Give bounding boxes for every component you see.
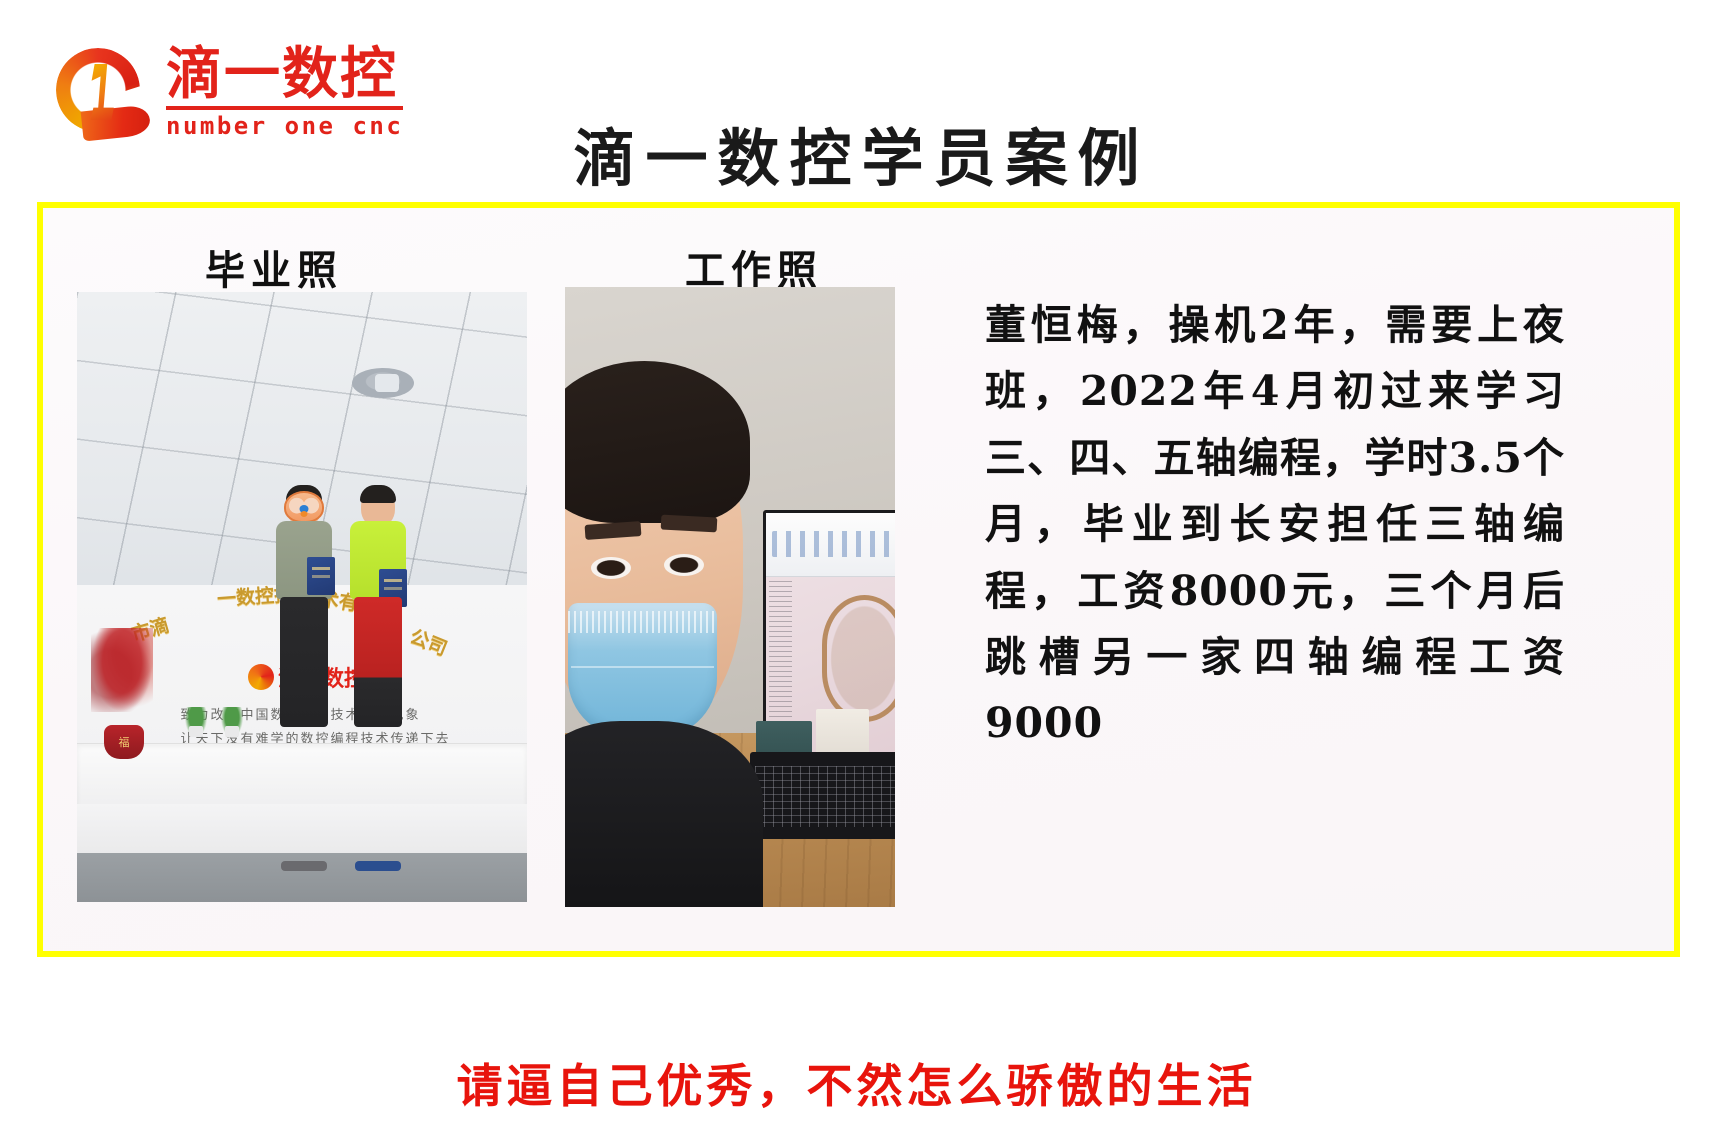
graduate-person-right xyxy=(347,487,409,865)
page-title: 滴一数控学员案例 xyxy=(0,108,1713,198)
potted-plant xyxy=(185,707,207,737)
surgical-mask xyxy=(568,603,717,739)
person-shoes xyxy=(281,861,327,871)
logo-chinese-name: 滴一数控 xyxy=(166,47,403,103)
caption-graduation-photo: 毕业照 xyxy=(205,238,343,296)
ceiling-downlight-icon xyxy=(352,368,414,398)
cad-part-model xyxy=(822,595,895,721)
certificate-booklet xyxy=(307,557,335,595)
flower-arrangement xyxy=(91,628,153,712)
work-photo xyxy=(565,287,895,907)
potted-plant xyxy=(221,707,243,737)
footer-slogan: 请逼自己优秀，不然怎么骄傲的生活 xyxy=(0,1050,1713,1116)
keyboard xyxy=(750,752,895,839)
graduate-person-left xyxy=(275,487,333,865)
person-black-shirt xyxy=(565,721,763,907)
person-slippers xyxy=(355,861,401,871)
person-eye-right xyxy=(664,554,704,576)
person-trousers xyxy=(280,597,328,727)
fortune-vase xyxy=(104,725,144,759)
graduation-photo: 市滴 一数控技 术有限 公司 滴一数控 致力改变中国数控行业技术保守现象 让天下… xyxy=(77,292,527,902)
mask-pleat xyxy=(571,666,714,668)
person-hair xyxy=(360,485,396,503)
person-eye-left xyxy=(591,557,631,579)
person-shorts xyxy=(354,597,402,727)
wall-logo-emblem-icon xyxy=(248,664,274,690)
student-case-description: 董恒梅，操机2年，需要上夜班，2022年4月初过来学习三、四、五轴编程，学时3.… xyxy=(985,292,1565,757)
slide-header: 滴一数控 number one cnc 滴一数控学员案例 xyxy=(0,0,1713,200)
cat-sticker-face-cover-icon xyxy=(284,491,324,523)
cad-toolbar-ribbon xyxy=(766,513,895,577)
